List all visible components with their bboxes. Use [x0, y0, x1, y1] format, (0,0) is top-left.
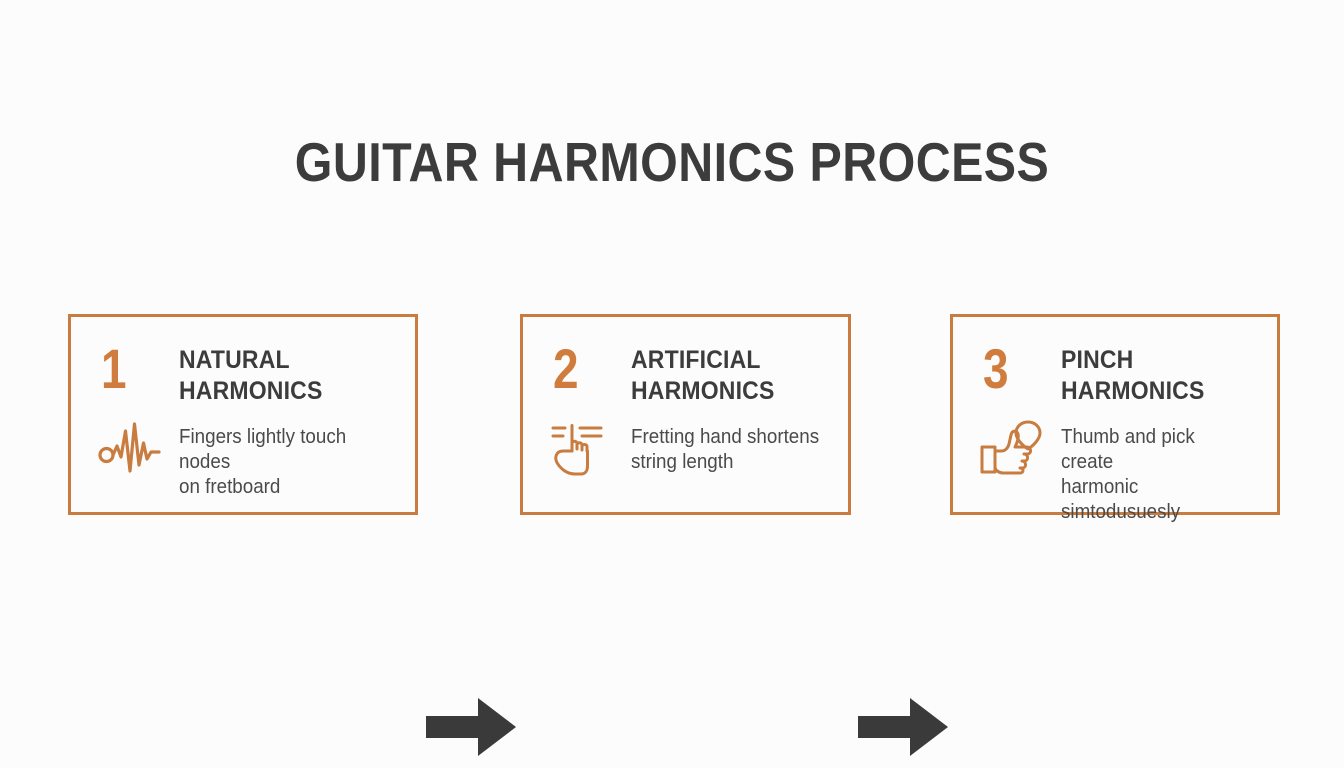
- step-3-heading: PINCH HARMONICS: [1061, 345, 1247, 407]
- step-2-right-column: ARTIFICIAL HARMONICS Fretting hand short…: [631, 345, 834, 475]
- step-card-2-inner: 2: [523, 317, 848, 512]
- page-title: GUITAR HARMONICS PROCESS: [81, 130, 1264, 194]
- step-card-3-inner: 3 PINCH HARMONICS Thumb and pick create …: [953, 317, 1277, 512]
- arrow-right-1: [426, 696, 516, 758]
- step-1-body: Fingers lightly touch nodes on fretboard: [179, 425, 388, 500]
- step-card-1[interactable]: 1 NATURAL HARMONICS Fingers lightly touc…: [68, 314, 418, 515]
- waveform-icon: [97, 419, 163, 477]
- step-1-right-column: NATURAL HARMONICS Fingers lightly touch …: [179, 345, 401, 500]
- step-2-number: 2: [553, 341, 609, 397]
- pointing-hand-icon: [549, 419, 615, 477]
- step-2-body: Fretting hand shortens string length: [631, 425, 822, 475]
- step-1-heading: NATURAL HARMONICS: [179, 345, 383, 407]
- step-2-heading: ARTIFICIAL HARMONICS: [631, 345, 818, 407]
- step-card-3[interactable]: 3 PINCH HARMONICS Thumb and pick create …: [950, 314, 1280, 515]
- step-card-2[interactable]: 2: [520, 314, 851, 515]
- step-3-left-column: 3: [983, 341, 1051, 491]
- step-3-number: 3: [983, 341, 1039, 397]
- thumbs-up-pick-icon: [979, 419, 1045, 477]
- step-3-right-column: PINCH HARMONICS Thumb and pick create ha…: [1061, 345, 1263, 525]
- step-card-1-inner: 1 NATURAL HARMONICS Fingers lightly touc…: [71, 317, 415, 512]
- process-steps-row: 1 NATURAL HARMONICS Fingers lightly touc…: [0, 314, 1344, 515]
- arrow-right-2: [858, 696, 948, 758]
- step-2-left-column: 2: [553, 341, 621, 491]
- step-1-number: 1: [101, 341, 157, 397]
- step-3-body: Thumb and pick create harmonic simtodusu…: [1061, 425, 1251, 525]
- infographic-canvas: GUITAR HARMONICS PROCESS 1 NATURAL HARMO…: [0, 0, 1344, 768]
- step-1-left-column: 1: [101, 341, 169, 491]
